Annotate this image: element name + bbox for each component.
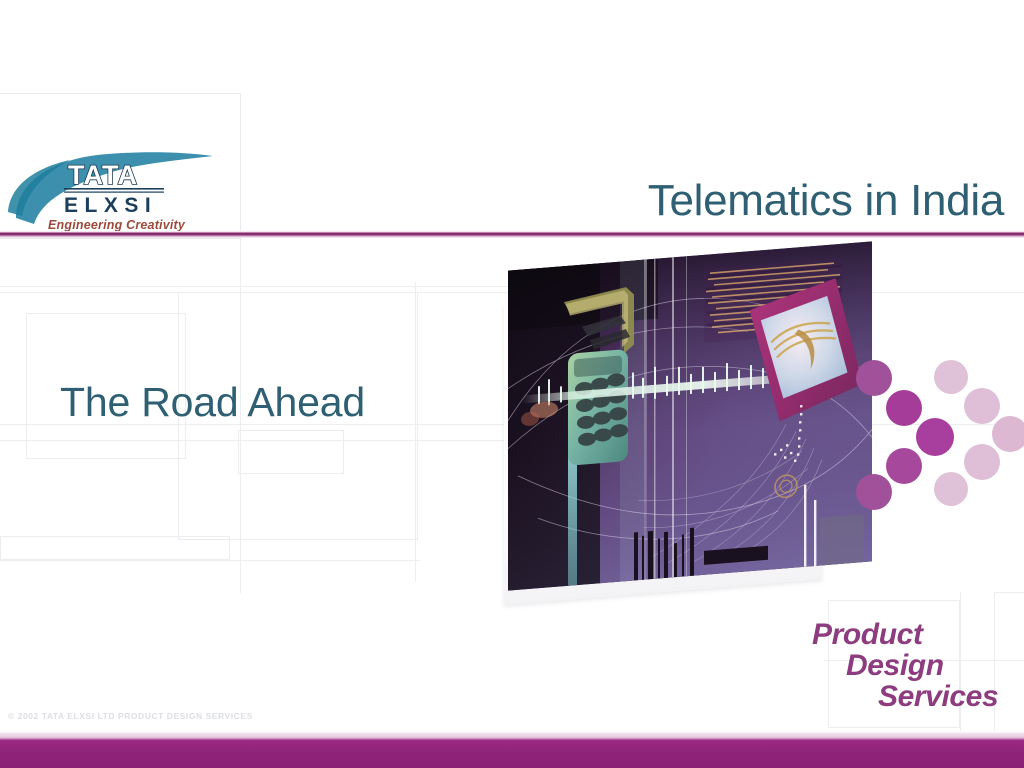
bottom-bar <box>0 735 1024 768</box>
dot-chevron-decoration <box>852 352 1024 512</box>
header-divider <box>0 231 1024 238</box>
svg-text:ELXSI: ELXSI <box>64 194 157 217</box>
chevron-dot <box>856 474 892 510</box>
slide-title: Telematics in India <box>470 178 1004 224</box>
slide-subtitle: The Road Ahead <box>60 379 365 426</box>
chevron-dot <box>992 416 1024 452</box>
chevron-dot <box>886 390 922 426</box>
product-design-services-mark: Product Design Services <box>812 620 998 713</box>
chevron-dot <box>964 388 1000 424</box>
tata-elxsi-logo: TATA ELXSI Engineering Creativity <box>8 142 218 234</box>
svg-text:Engineering Creativity: Engineering Creativity <box>48 218 186 232</box>
pds-line-1: Product <box>812 620 998 651</box>
chevron-dot <box>886 448 922 484</box>
artwork-collage <box>508 241 872 590</box>
chevron-dot <box>856 360 892 396</box>
presentation-slide: TATA ELXSI Engineering Creativity Telema… <box>0 0 1024 768</box>
chevron-dot <box>964 444 1000 480</box>
chevron-dot <box>916 418 954 456</box>
chevron-dot <box>934 472 968 506</box>
copyright-notice: © 2002 TATA ELXSI LTD PRODUCT DESIGN SER… <box>8 711 253 721</box>
hero-artwork <box>500 248 878 588</box>
pds-line-2: Design <box>846 651 998 682</box>
chevron-dot <box>934 360 968 394</box>
svg-text:TATA: TATA <box>68 160 138 190</box>
pds-line-3: Services <box>878 682 998 713</box>
